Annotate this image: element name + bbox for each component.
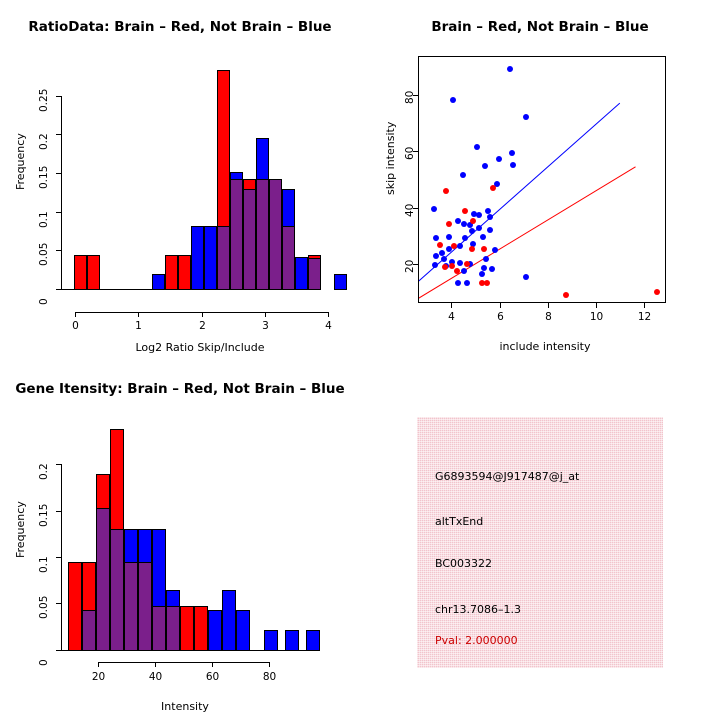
ratio-y-tick [56,212,61,213]
scatter-point [454,268,460,274]
scatter-point [654,289,660,295]
gene-x-ticklabel: 40 [143,671,168,683]
ratio-y-tick [56,96,61,97]
gene-y-tick [56,603,61,604]
ratio-y-tick [56,250,61,251]
scatter-point [507,66,513,72]
scatter-point [431,206,437,212]
ratio-bar [191,226,204,290]
scatter-point [509,150,515,156]
panel-info: G6893594@J917487@j_at altTxEnd BC003322 … [360,360,720,720]
ratio-y-ticklabel: 0 [38,298,50,305]
scatter-point [523,114,529,120]
gene-y-ticklabel: 0 [38,659,50,666]
gene-bar [285,630,299,651]
scatter-point [492,247,498,253]
ratio-bar-overlap [230,179,243,290]
ratio-bar-overlap [243,189,256,290]
gene-y-tick [56,511,61,512]
scatter-title: Brain – Red, Not Brain – Blue [360,19,720,35]
ratio-histogram-xlabel: Log2 Ratio Skip/Include [60,341,340,354]
scatter-ylabel: skip intensity [384,122,397,195]
scatter-point [432,262,438,268]
scatter-point [496,156,502,162]
gene-y-ticklabel: 0.05 [38,596,50,619]
ratio-y-ticklabel: 0.2 [38,133,50,150]
gene-y-ticklabel: 0.2 [38,463,50,480]
ratio-y-axis-line [61,96,62,289]
scatter-point [464,261,470,267]
ratio-bar-overlap [269,179,282,290]
ratio-bar [178,255,191,290]
ratio-x-tick [202,312,203,317]
scatter-point [490,185,496,191]
scatter-point [457,243,463,249]
panel-intensity-scatter: Brain – Red, Not Brain – Blue skip inten… [360,0,720,360]
gene-y-ticklabel: 0.15 [38,504,50,527]
info-accession: BC003322 [435,557,492,570]
scatter-point [469,228,475,234]
ratio-y-ticklabel: 0.05 [38,243,50,266]
scatter-point [433,235,439,241]
ratio-x-tick [75,312,76,317]
scatter-point [523,274,529,280]
panel-gene-intensity-histogram: Gene Itensity: Brain – Red, Not Brain – … [0,360,360,720]
gene-x-tick [98,662,99,667]
scatter-point [489,266,495,272]
scatter-point [479,271,485,277]
ratio-bar-overlap [282,226,295,290]
scatter-point [487,214,493,220]
ratio-y-ticklabel: 0.25 [38,89,50,112]
scatter-y-ticklabel: 20 [404,260,416,273]
scatter-point [462,235,468,241]
ratio-bar [152,274,165,290]
scatter-x-tick [548,303,549,308]
gene-x-ticklabel: 60 [200,671,225,683]
ratio-x-tick [328,312,329,317]
gene-histogram-ylabel: Frequency [14,501,27,558]
scatter-point [484,280,490,286]
scatter-x-tick [500,303,501,308]
scatter-point [446,234,452,240]
scatter-y-ticklabel: 60 [404,147,416,160]
gene-bar [194,606,208,651]
gene-x-ticklabel: 20 [86,671,111,683]
scatter-point [461,268,467,274]
scatter-plot-area [418,56,666,303]
info-panel-background: G6893594@J917487@j_at altTxEnd BC003322 … [417,417,663,668]
scatter-point [487,227,493,233]
gene-bar-overlap [152,606,166,651]
scatter-point [474,144,480,150]
gene-bar-overlap [124,562,138,651]
gene-bar-overlap [82,610,96,651]
scatter-point [464,280,470,286]
scatter-x-tick [644,303,645,308]
gene-bar [180,606,194,651]
gene-bar-overlap [110,529,124,651]
ratio-bar [87,255,100,290]
gene-histogram-xlabel: Intensity [60,700,310,713]
gene-bar [222,590,236,651]
ratio-x-tick [265,312,266,317]
scatter-point [455,280,461,286]
gene-y-tick [56,557,61,558]
scatter-xlabel: include intensity [420,340,670,353]
scatter-point [462,208,468,214]
gene-y-ticklabel: 0.1 [38,556,50,573]
ratio-y-tick [56,134,61,135]
scatter-point [460,172,466,178]
info-probeset-id: G6893594@J917487@j_at [435,470,579,483]
gene-bar [68,562,82,651]
gene-x-tick [269,662,270,667]
gene-bar [306,630,320,651]
scatter-point [450,97,456,103]
scatter-x-ticklabel: 10 [584,311,609,323]
scatter-point [457,260,463,266]
scatter-point [469,246,475,252]
scatter-point [480,234,486,240]
scatter-point [433,253,439,259]
gene-histogram-title: Gene Itensity: Brain – Red, Not Brain – … [0,381,360,397]
scatter-point [470,218,476,224]
scatter-point [481,246,487,252]
gene-x-ticklabel: 80 [257,671,282,683]
scatter-point [476,212,482,218]
scatter-point [443,188,449,194]
scatter-y-ticklabel: 80 [404,91,416,104]
gene-bar-overlap [166,606,180,651]
scatter-point [482,163,488,169]
ratio-bar [334,274,347,290]
ratio-bar-overlap [308,258,321,290]
ratio-y-ticklabel: 0.1 [38,211,50,228]
gene-x-tick [212,662,213,667]
gene-bar [208,610,222,651]
scatter-point [442,264,448,270]
ratio-bar-overlap [256,179,269,290]
info-event-type: altTxEnd [435,515,483,528]
info-pval: Pval: 2.000000 [435,634,518,647]
gene-bar [264,630,278,651]
gene-bar [236,610,250,651]
scatter-point [510,162,516,168]
panel-ratio-histogram: RatioData: Brain – Red, Not Brain – Blue… [0,0,360,360]
scatter-point [476,225,482,231]
scatter-point [446,221,452,227]
scatter-point [483,256,489,262]
gene-bar-overlap [138,562,152,651]
ratio-bar [74,255,87,290]
scatter-point [441,256,447,262]
scatter-y-ticklabel: 40 [404,204,416,217]
scatter-point [451,243,457,249]
ratio-x-ticklabel: 4 [316,320,341,332]
ratio-x-ticklabel: 1 [126,320,151,332]
ratio-bar [165,255,178,290]
scatter-x-ticklabel: 4 [439,311,464,323]
ratio-histogram-ylabel: Frequency [14,133,27,190]
scatter-x-ticklabel: 6 [488,311,513,323]
info-locus: chr13.7086–1.3 [435,603,521,616]
figure-canvas: RatioData: Brain – Red, Not Brain – Blue… [0,0,720,720]
scatter-x-ticklabel: 12 [632,311,657,323]
ratio-x-ticklabel: 2 [190,320,215,332]
gene-x-axis-line [98,662,270,663]
ratio-x-ticklabel: 0 [63,320,88,332]
ratio-bar [295,257,308,290]
ratio-histogram-title: RatioData: Brain – Red, Not Brain – Blue [0,19,360,35]
gene-y-tick [56,464,61,465]
scatter-x-ticklabel: 8 [536,311,561,323]
gene-y-axis-line [61,464,62,650]
scatter-x-tick [451,303,452,308]
gene-x-tick [155,662,156,667]
gene-bar-overlap [96,508,110,651]
scatter-point [563,292,569,298]
ratio-bar [204,226,217,290]
ratio-y-ticklabel: 0.15 [38,166,50,189]
ratio-y-tick [56,173,61,174]
scatter-point [437,242,443,248]
ratio-bar-overlap [217,226,230,290]
ratio-x-tick [138,312,139,317]
ratio-x-ticklabel: 3 [253,320,278,332]
scatter-x-tick [596,303,597,308]
